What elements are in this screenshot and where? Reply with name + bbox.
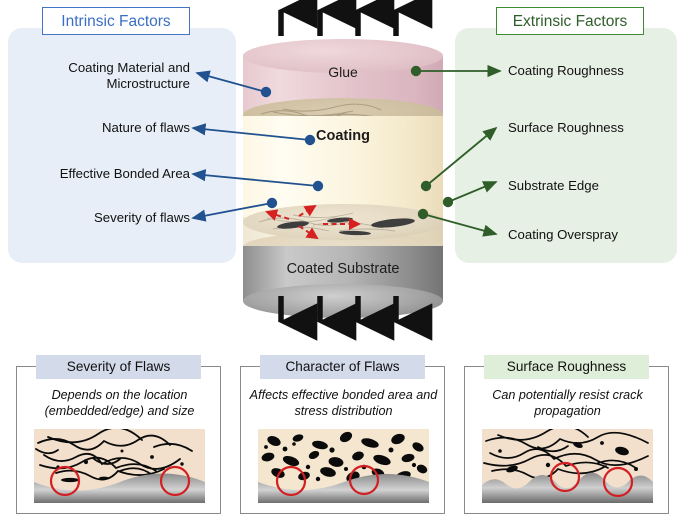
card-severity-of-flaws: Severity of Flaws Depends on the locatio… (16, 366, 221, 514)
extrinsic-anchor-dots (411, 66, 453, 219)
card-caption-severity: Depends on the location (embedded/edge) … (23, 387, 216, 419)
micrograph-roughness (482, 429, 653, 503)
micrograph-character (258, 429, 429, 503)
intrinsic-anchor-dots (261, 87, 323, 208)
diagram-canvas: Intrinsic Factors Extrinsic Factors Coat… (0, 0, 685, 523)
card-title-character: Character of Flaws (260, 355, 425, 379)
micrograph-roughness-svg (482, 429, 653, 503)
card-title-roughness: Surface Roughness (484, 355, 649, 379)
intrinsic-connectors (193, 73, 318, 218)
micrograph-severity (34, 429, 205, 503)
card-caption-character: Affects effective bonded area and stress… (247, 387, 440, 419)
card-title-severity: Severity of Flaws (36, 355, 201, 379)
card-surface-roughness: Surface Roughness Can potentially resist… (464, 366, 669, 514)
card-caption-roughness: Can potentially resist crack propagation (471, 387, 664, 419)
micrograph-severity-svg (34, 429, 205, 503)
card-character-of-flaws: Character of Flaws Affects effective bon… (240, 366, 445, 514)
extrinsic-connectors (416, 71, 500, 234)
micrograph-character-svg (258, 429, 429, 503)
